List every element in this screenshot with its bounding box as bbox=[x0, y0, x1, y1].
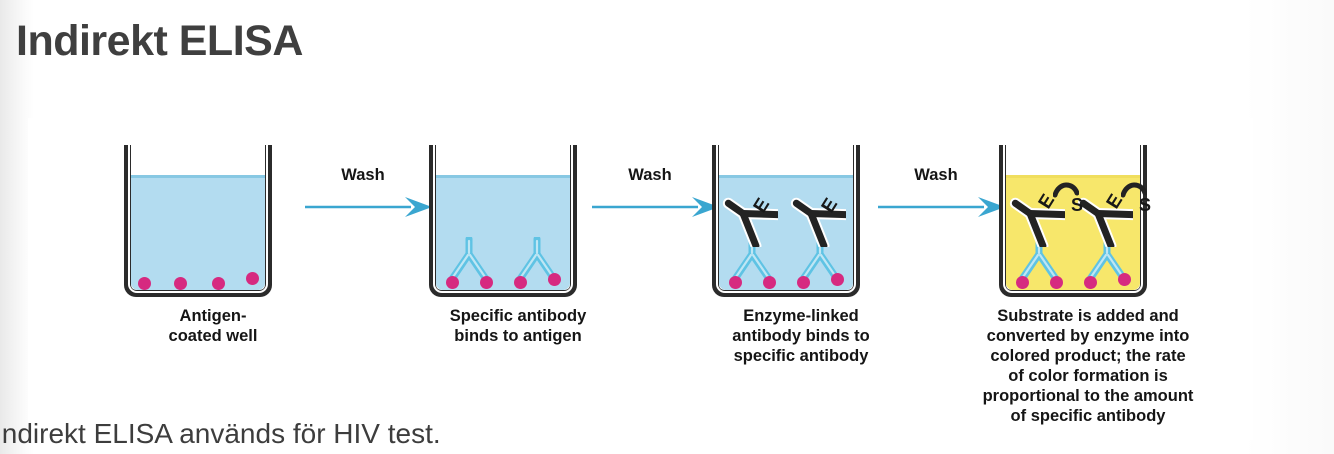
antigen-dot bbox=[1016, 276, 1029, 289]
antigen-dot bbox=[480, 276, 493, 289]
well-2 bbox=[421, 145, 585, 297]
antigen-dot bbox=[212, 277, 225, 290]
antigen-dot bbox=[763, 276, 776, 289]
caption-line: of color formation is bbox=[943, 366, 1233, 386]
caption-line: colored product; the rate bbox=[943, 346, 1233, 366]
well-4: E S bbox=[991, 145, 1155, 297]
right-edge-shading bbox=[1244, 0, 1334, 454]
slide-body-text: Indirekt ELISA används för HIV test. bbox=[0, 418, 441, 450]
caption-line: of specific antibody bbox=[943, 406, 1233, 426]
caption-line: specific antibody bbox=[676, 346, 926, 366]
substrate-tag: S bbox=[1071, 195, 1083, 216]
elisa-step-4: E S bbox=[963, 118, 1213, 440]
step-4-caption: Substrate is added and converted by enzy… bbox=[943, 306, 1233, 426]
antigen-dot bbox=[729, 276, 742, 289]
antigen-dot bbox=[548, 273, 561, 286]
antigen-dot bbox=[246, 272, 259, 285]
antigen-dot bbox=[797, 276, 810, 289]
liquid-surface bbox=[719, 175, 853, 178]
well-1 bbox=[116, 145, 280, 297]
caption-line: Antigen- bbox=[88, 306, 338, 326]
page-title: Indirekt ELISA bbox=[16, 17, 303, 66]
antigen-dot bbox=[138, 277, 151, 290]
caption-line: antibody binds to bbox=[676, 326, 926, 346]
caption-line: proportional to the amount bbox=[943, 386, 1233, 406]
liquid-surface bbox=[1006, 175, 1140, 178]
liquid-surface bbox=[436, 175, 570, 178]
caption-line: Substrate is added and bbox=[943, 306, 1233, 326]
antigen-dot bbox=[174, 277, 187, 290]
elisa-figure: Antigen- coated well Wash bbox=[28, 118, 1253, 440]
antigen-dot bbox=[1050, 276, 1063, 289]
caption-line: Specific antibody bbox=[393, 306, 643, 326]
antigen-dot bbox=[446, 276, 459, 289]
caption-line: binds to antigen bbox=[393, 326, 643, 346]
enzyme-linked-antibody bbox=[786, 187, 846, 247]
slide-canvas: Indirekt ELISA Antigen- coated well bbox=[0, 0, 1334, 454]
step-1-caption: Antigen- coated well bbox=[88, 306, 338, 346]
caption-line: Enzyme-linked bbox=[676, 306, 926, 326]
elisa-step-1: Antigen- coated well bbox=[88, 118, 338, 440]
antigen-dot bbox=[1118, 273, 1131, 286]
well-1-liquid bbox=[131, 175, 265, 290]
enzyme-linked-antibody bbox=[718, 187, 778, 247]
antigen-dot bbox=[1084, 276, 1097, 289]
caption-line: converted by enzyme into bbox=[943, 326, 1233, 346]
antigen-dot bbox=[831, 273, 844, 286]
step-3-caption: Enzyme-linked antibody binds to specific… bbox=[676, 306, 926, 366]
well-3: E E bbox=[704, 145, 868, 297]
substrate-tag: S bbox=[1139, 195, 1151, 216]
caption-line: coated well bbox=[88, 326, 338, 346]
step-2-caption: Specific antibody binds to antigen bbox=[393, 306, 643, 346]
antigen-dot bbox=[514, 276, 527, 289]
liquid-surface bbox=[131, 175, 265, 178]
